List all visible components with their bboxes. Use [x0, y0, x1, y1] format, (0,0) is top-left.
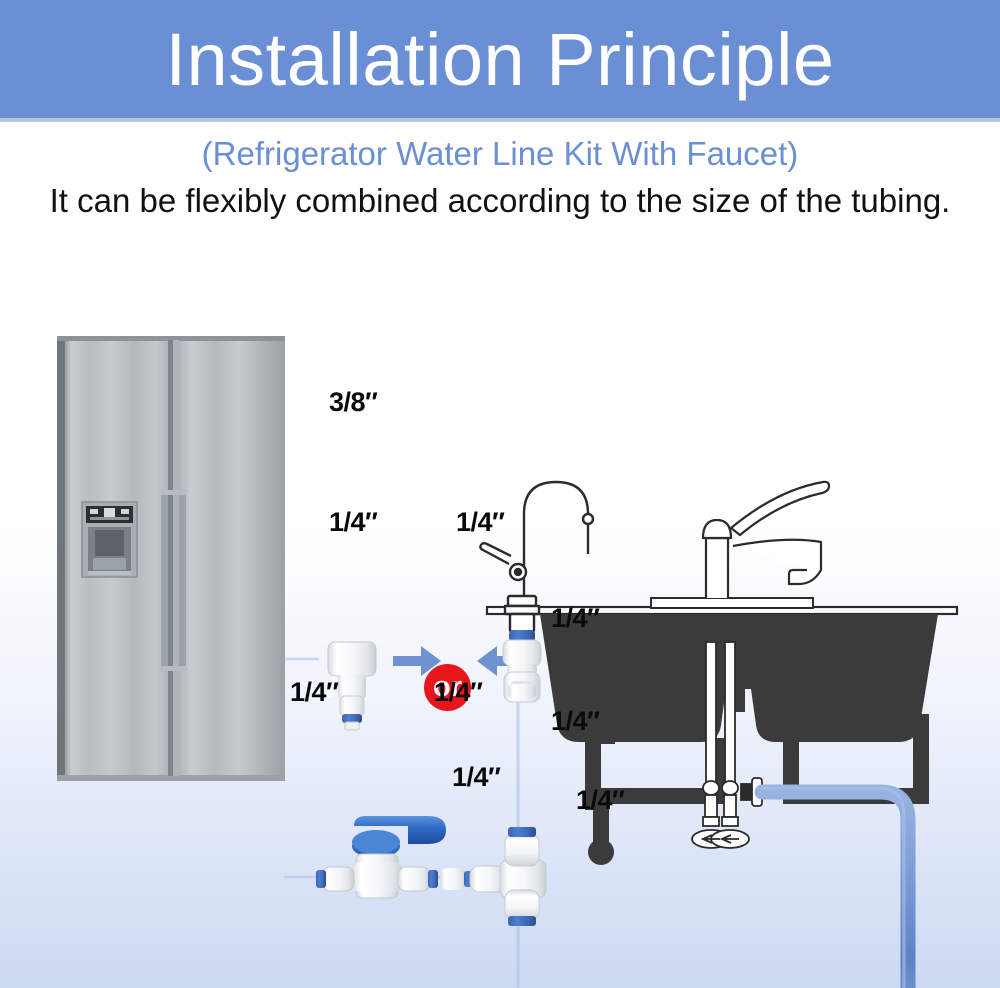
faucet-connector-assembly	[503, 630, 541, 702]
tube-feed-right	[762, 788, 908, 988]
tube-to-refrigerator	[285, 659, 320, 662]
tube-bottom-run	[566, 816, 712, 988]
diagram-illustration	[0, 222, 1000, 988]
infographic-page: Installation Principle (Refrigerator Wat…	[0, 0, 1000, 988]
refrigerator-illustration	[57, 336, 285, 781]
page-title: Installation Principle	[0, 14, 1000, 106]
ball-valve	[316, 816, 473, 898]
label-faucet-riser: 1/4″	[456, 507, 504, 537]
page-subtitle: (Refrigerator Water Line Kit With Faucet…	[0, 134, 1000, 174]
label-adapter-bottom: 1/4″	[329, 507, 377, 537]
label-valve-outlet: 1/4″	[434, 677, 482, 707]
label-valve-inlet: 1/4″	[290, 677, 338, 707]
label-adapter-top: 3/8″	[329, 387, 377, 417]
page-tagline: It can be flexibly combined according to…	[0, 180, 1000, 222]
label-tee-downleg: 1/4″	[452, 762, 500, 792]
tube-faucet-riser	[518, 692, 521, 840]
label-tee-upper: 1/4″	[551, 603, 599, 633]
label-tee-right: 1/4″	[551, 706, 599, 736]
diagram-canvas: UF PP CTO PP or 3/8″ 1/4″ 1/4″ 1/4″ 1/4″…	[0, 222, 1000, 988]
label-elbow-outlet: 1/4″	[576, 785, 624, 815]
tee-fitting	[470, 827, 546, 926]
sink-illustration	[480, 482, 957, 865]
header-divider	[0, 118, 1000, 122]
